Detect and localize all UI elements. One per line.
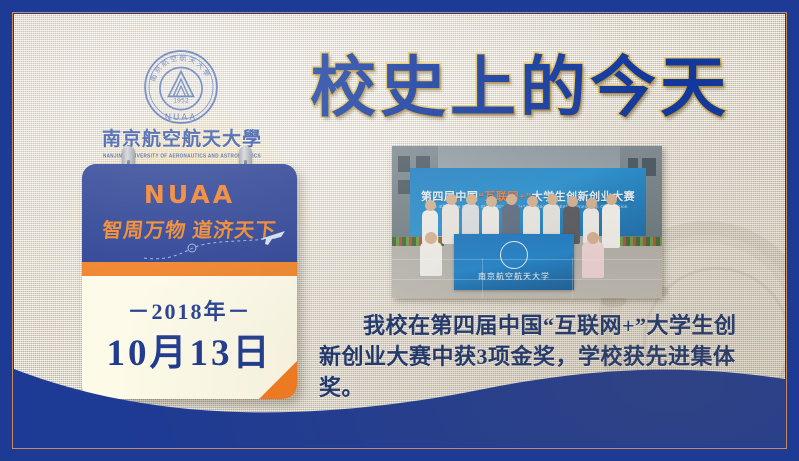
bottom-wave bbox=[14, 327, 785, 447]
svg-text:1952: 1952 bbox=[173, 98, 189, 105]
page-title: 校史上的今天 bbox=[310, 50, 740, 128]
calendar-header: NUAA 智周万物 道济天下 bbox=[82, 164, 297, 262]
poster-root: 1952 NUAA 南 京 航 空 航 天 大 學 南京航空航天大學 NANJI… bbox=[0, 0, 799, 461]
svg-text:NUAA: NUAA bbox=[165, 113, 197, 123]
linen-canvas: 1952 NUAA 南 京 航 空 航 天 大 學 南京航空航天大學 NANJI… bbox=[14, 14, 785, 447]
calendar-divider bbox=[82, 262, 297, 276]
nuaa-seal-icon: 1952 NUAA 南 京 航 空 航 天 大 學 bbox=[142, 48, 220, 126]
flag-seal-icon bbox=[500, 241, 528, 269]
flag-text: 南京航空航天大学 bbox=[454, 271, 574, 282]
calendar-brand: NUAA bbox=[82, 180, 297, 209]
nuaa-flag: 南京航空航天大学 bbox=[454, 234, 574, 290]
airplane-icon bbox=[259, 228, 287, 246]
award-group-photo: 第四届中国“互联网+”大学生创新创业大赛 The 4th China Colle… bbox=[392, 146, 662, 298]
